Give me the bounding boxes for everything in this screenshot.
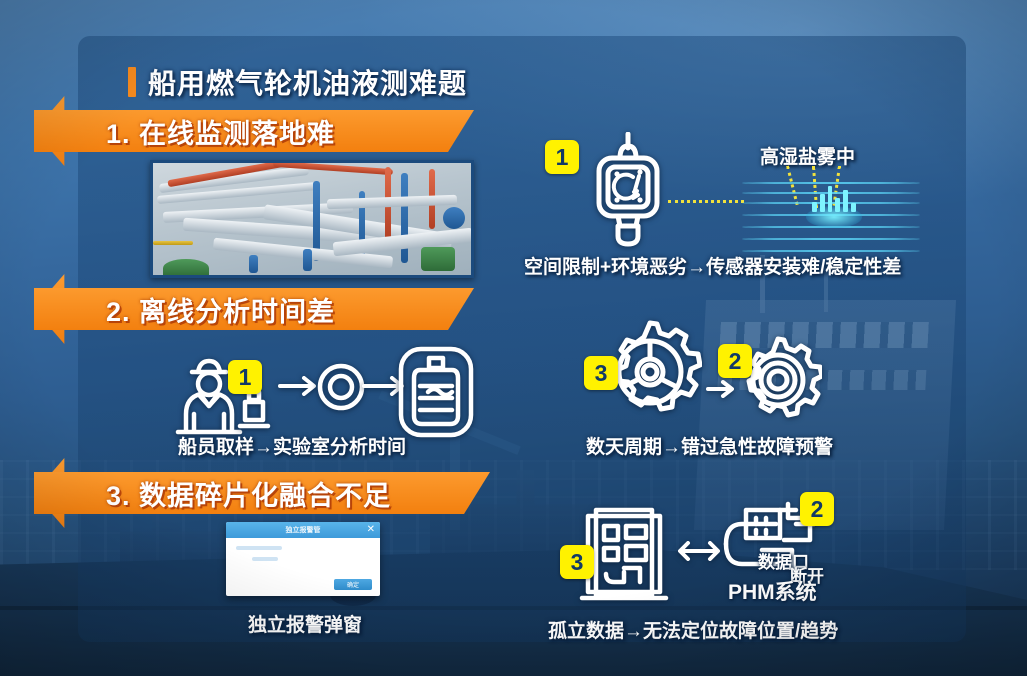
sensor-link-dots: [668, 200, 744, 203]
sample-bottle-icon: [236, 388, 272, 432]
section-2-right-caption: 数天周期→错过急性故障预警: [586, 432, 833, 459]
popup-title: 独立报警管: [286, 525, 321, 535]
section-3-banner: 3. 数据碎片化融合不足: [34, 472, 490, 514]
signal-bars-icon: [812, 186, 856, 212]
section-1-banner-label: 1. 在线监测落地难: [106, 112, 335, 151]
title-accent-bar: [128, 67, 136, 97]
popup-text-line: [252, 557, 278, 561]
section-3-banner-label: 3. 数据碎片化融合不足: [106, 474, 391, 513]
process-ring-icon: [316, 362, 366, 412]
title-text: 船用燃气轮机油液测难题: [148, 62, 467, 102]
engine-room-photo: [150, 160, 474, 278]
popup-body: [226, 538, 380, 576]
section-2-banner: 2. 离线分析时间差: [34, 288, 474, 330]
sensor-device-icon: [590, 132, 666, 252]
infographic-canvas: 船用燃气轮机油液测难题 1. 在线监测落地难 1: [0, 0, 1027, 676]
section-1-badge: 1: [545, 140, 579, 174]
section-3-banner-bar: 3. 数据碎片化融合不足: [34, 472, 490, 514]
close-icon[interactable]: ✕: [367, 524, 375, 535]
section-3-badge-2: 2: [800, 492, 834, 526]
section-1-annotation: 高湿盐雾中: [760, 142, 855, 169]
section-2-banner-label: 2. 离线分析时间差: [106, 290, 335, 329]
alarm-popup-mock[interactable]: 独立报警管 ✕ 确定: [226, 522, 380, 596]
bidirectional-arrow-icon: [676, 538, 724, 564]
popup-confirm-button[interactable]: 确定: [334, 579, 372, 590]
lab-flask-icon: [398, 346, 474, 438]
page-title: 船用燃气轮机油液测难题: [128, 62, 467, 102]
popup-confirm-label: 确定: [347, 580, 359, 589]
section-1-banner: 1. 在线监测落地难: [34, 110, 474, 152]
section-3-right-caption: 孤立数据→无法定位故障位置/趋势: [548, 616, 838, 643]
popup-text-line: [236, 546, 282, 550]
section-2-banner-bar: 2. 离线分析时间差: [34, 288, 474, 330]
popup-titlebar: 独立报警管 ✕: [226, 522, 380, 538]
section-3-left-caption: 独立报警弹窗: [248, 610, 362, 637]
section-2-badge-2: 2: [718, 344, 752, 378]
section-3-badge-3: 3: [560, 545, 594, 579]
section-2-left-badge: 1: [228, 360, 262, 394]
section-1-caption: 空间限制+环境恶劣→传感器安装难/稳定性差: [524, 252, 901, 279]
section-2-badge-3: 3: [584, 356, 618, 390]
section-1-banner-bar: 1. 在线监测落地难: [34, 110, 474, 152]
phm-system-label: PHM系统: [728, 576, 817, 606]
section-2-left-caption: 船员取样→实验室分析时间: [178, 432, 406, 459]
